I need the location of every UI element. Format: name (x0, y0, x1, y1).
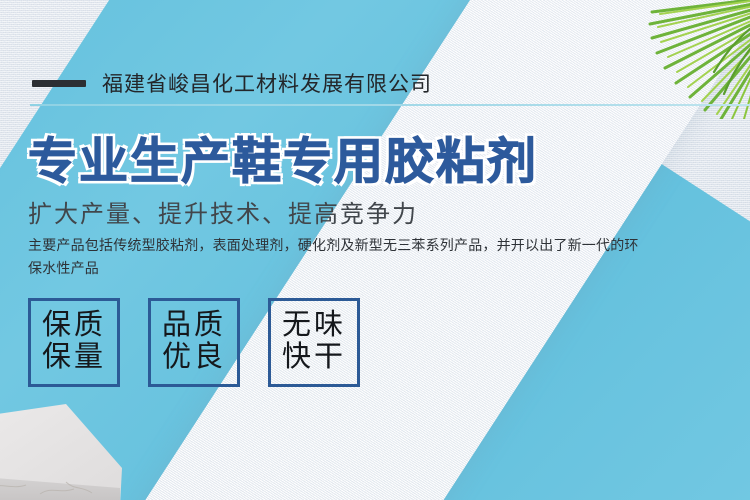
headline: 专业生产鞋专用胶粘剂 (28, 122, 538, 193)
company-name: 福建省峻昌化工材料发展有限公司 (102, 68, 432, 98)
feature-box-line2: 优良 (162, 341, 226, 373)
company-row: 福建省峻昌化工材料发展有限公司 (32, 68, 432, 98)
feature-box-line2: 保量 (42, 341, 106, 373)
promotional-banner: 福建省峻昌化工材料发展有限公司 专业生产鞋专用胶粘剂 扩大产量、提升技术、提高竞… (0, 0, 750, 500)
feature-box-line1: 品质 (162, 309, 226, 341)
dash-mark-icon (32, 80, 86, 87)
feature-box-row: 保质 保量 品质 优良 无味 快干 (28, 298, 360, 387)
description-text: 主要产品包括传统型胶粘剂，表面处理剂，硬化剂及新型无三苯系列产品，并开以出了新一… (28, 234, 643, 280)
banner-content: 福建省峻昌化工材料发展有限公司 专业生产鞋专用胶粘剂 扩大产量、提升技术、提高竞… (0, 0, 750, 500)
feature-box: 无味 快干 (268, 298, 360, 387)
feature-box-line1: 保质 (42, 309, 106, 341)
divider-rule (30, 104, 750, 106)
feature-box: 保质 保量 (28, 298, 120, 387)
subheadline: 扩大产量、提升技术、提高竞争力 (28, 194, 418, 229)
feature-box: 品质 优良 (148, 298, 240, 387)
feature-box-line2: 快干 (282, 341, 346, 373)
feature-box-line1: 无味 (282, 309, 346, 341)
